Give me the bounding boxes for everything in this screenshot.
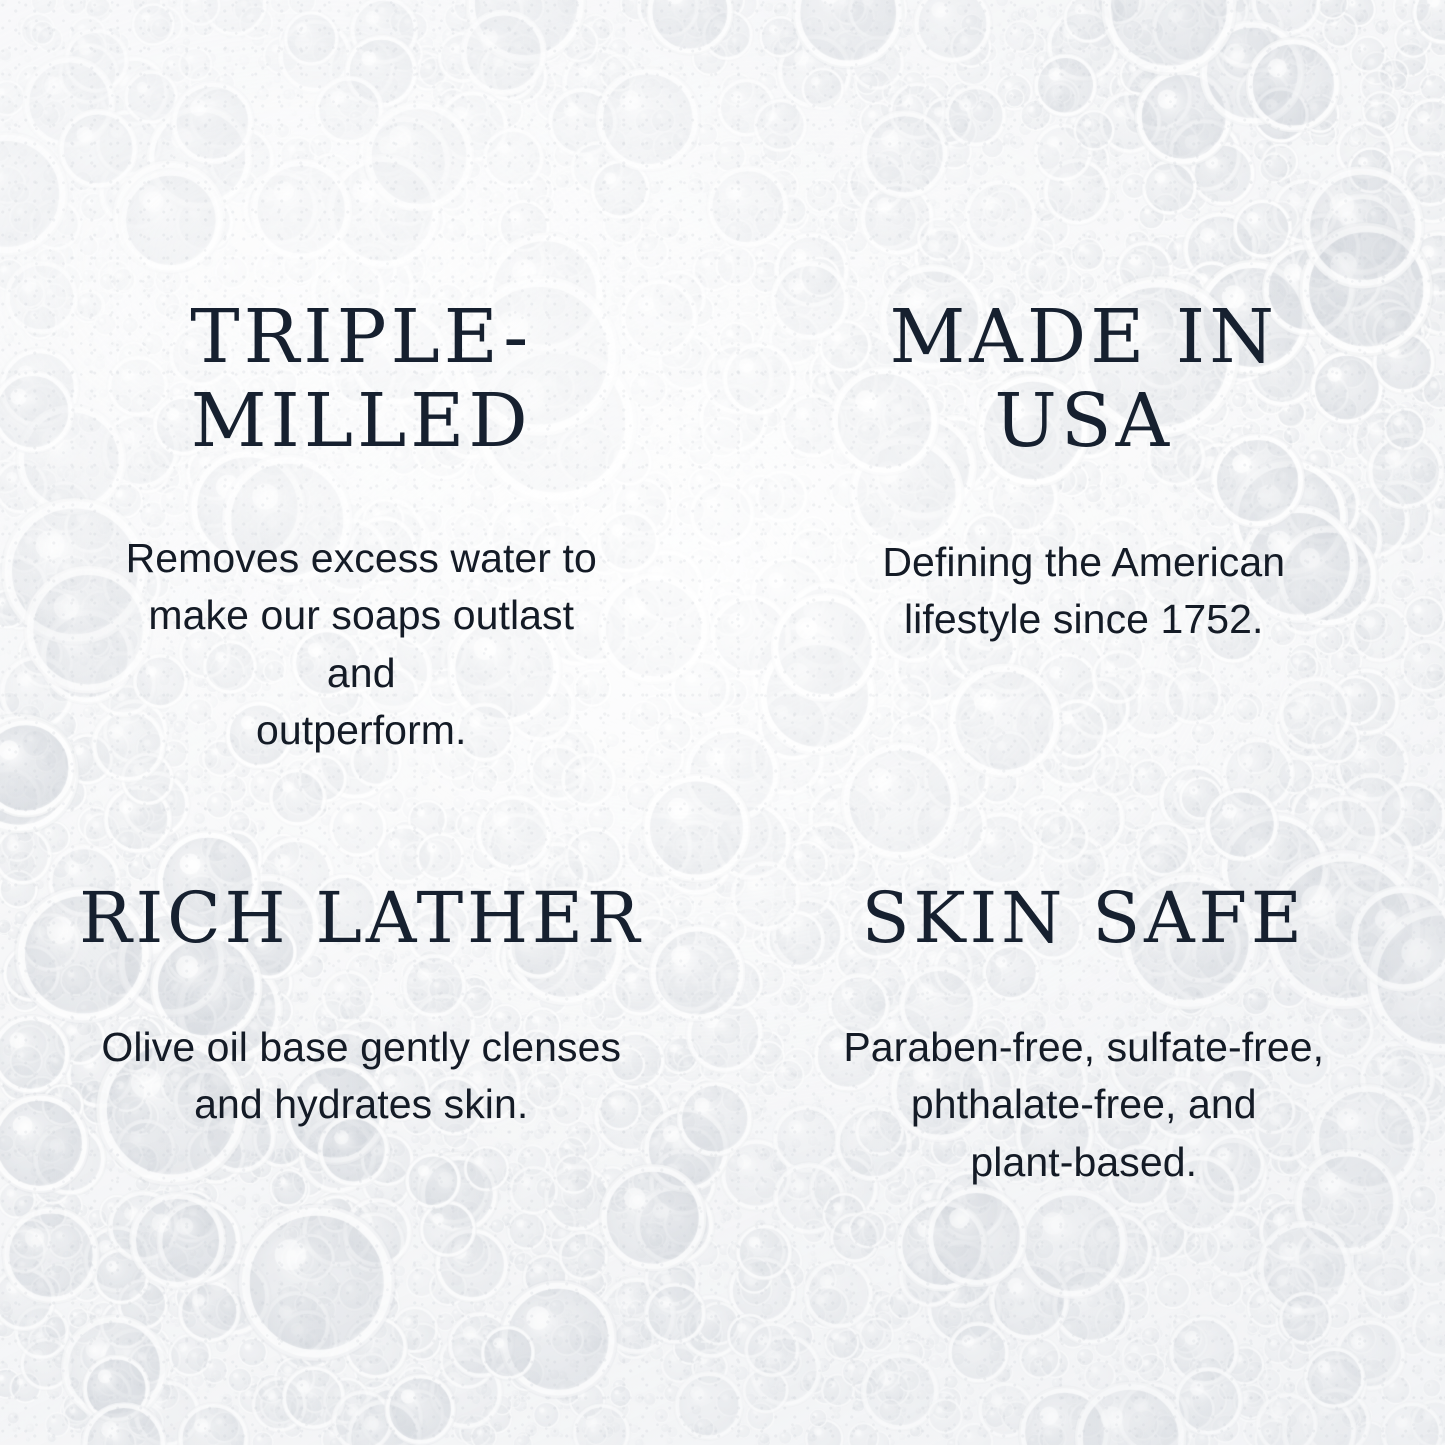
benefit-card-triple-milled: TRIPLE- MILLED Removes excess water to m… <box>0 0 723 759</box>
benefits-grid: TRIPLE- MILLED Removes excess water to m… <box>0 0 1445 1445</box>
benefit-description-skin-safe: Paraben-free, sulfate-free, phthalate-fr… <box>843 1019 1324 1191</box>
benefit-card-rich-lather: RICH LATHER Olive oil base gently clense… <box>0 759 723 1445</box>
benefit-title-made-in-usa: MADE IN USA <box>889 295 1278 464</box>
benefit-title-triple-milled: TRIPLE- MILLED <box>190 295 532 464</box>
benefit-description-made-in-usa: Defining the American lifestyle since 17… <box>882 534 1285 649</box>
benefit-title-skin-safe: SKIN SAFE <box>862 879 1306 959</box>
benefit-description-triple-milled: Removes excess water to make our soaps o… <box>118 530 605 760</box>
benefit-card-made-in-usa: MADE IN USA Defining the American lifest… <box>723 0 1445 759</box>
benefit-card-skin-safe: SKIN SAFE Paraben-free, sulfate-free, ph… <box>723 759 1445 1445</box>
product-benefits-panel: TRIPLE- MILLED Removes excess water to m… <box>0 0 1445 1445</box>
benefit-description-rich-lather: Olive oil base gently clenses and hydrat… <box>101 1019 621 1134</box>
benefit-title-rich-lather: RICH LATHER <box>79 879 643 959</box>
